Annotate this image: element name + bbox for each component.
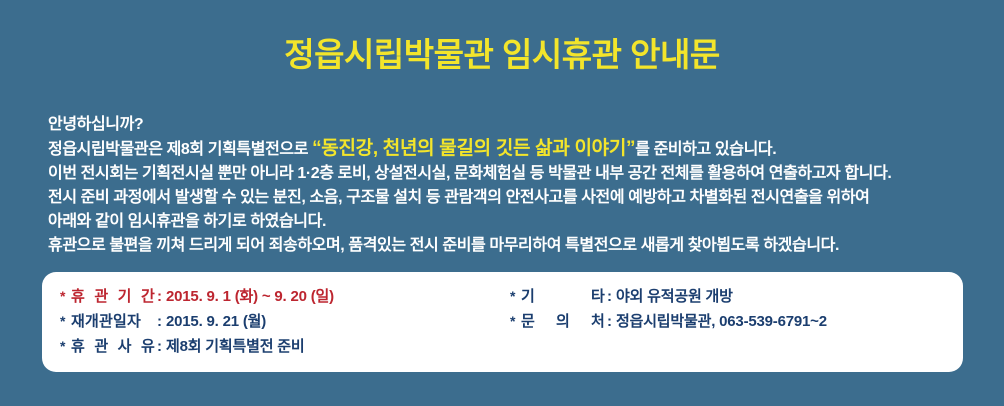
body-line-1-text: 안녕하십니까?: [48, 116, 143, 133]
detail-row-other: * 기 타 : 야외 유적공원 개방: [510, 284, 827, 309]
details-column-left: * 휴 관 기 간 : 2015. 9. 1 (화) ~ 9. 20 (일) *…: [60, 284, 334, 359]
details-panel: * 휴 관 기 간 : 2015. 9. 1 (화) ~ 9. 20 (일) *…: [42, 272, 963, 372]
detail-label: 재개관일자: [71, 309, 155, 334]
body-line-4-text: 전시 준비 과정에서 발생할 수 있는 분진, 소음, 구조물 설치 등 관람객…: [48, 189, 870, 206]
detail-value: 2015. 9. 21 (월): [166, 309, 266, 334]
body-line-6: 휴관으로 불편을 끼쳐 드리게 되어 죄송하오며, 품격있는 전시 준비를 마무…: [48, 234, 978, 258]
bullet-asterisk-icon: *: [60, 334, 71, 359]
body-line-3-text: 이번 전시회는 기획전시실 뿐만 아니라 1·2층 로비, 상설전시실, 문화체…: [48, 165, 891, 182]
detail-row-closure-period: * 휴 관 기 간 : 2015. 9. 1 (화) ~ 9. 20 (일): [60, 284, 334, 309]
bullet-asterisk-icon: *: [510, 284, 521, 309]
body-line-2-prefix: 정읍시립박물관은 제8회 기획특별전으로: [48, 141, 312, 158]
body-line-4: 전시 준비 과정에서 발생할 수 있는 분진, 소음, 구조물 설치 등 관람객…: [48, 186, 978, 210]
bullet-asterisk-icon: *: [510, 309, 521, 334]
body-line-2: 정읍시립박물관은 제8회 기획특별전으로 “동진강, 천년의 물길의 깃든 삶과…: [48, 137, 978, 162]
detail-value: 정읍시립박물관, 063-539-6791~2: [616, 309, 827, 334]
detail-separator: :: [605, 284, 616, 309]
notice-body: 안녕하십니까? 정읍시립박물관은 제8회 기획특별전으로 “동진강, 천년의 물…: [48, 113, 978, 258]
body-line-3: 이번 전시회는 기획전시실 뿐만 아니라 1·2층 로비, 상설전시실, 문화체…: [48, 162, 978, 186]
detail-row-closure-reason: * 휴 관 사 유 : 제8회 기획특별전 준비: [60, 334, 334, 359]
detail-label: 휴 관 기 간: [71, 284, 155, 309]
bullet-asterisk-icon: *: [60, 309, 71, 334]
body-line-5: 아래와 같이 임시휴관을 하기로 하였습니다.: [48, 210, 978, 234]
page-title: 정읍시립박물관 임시휴관 안내문: [0, 33, 1004, 77]
detail-label: 휴 관 사 유: [71, 334, 155, 359]
body-line-2-suffix: 를 준비하고 있습니다.: [635, 141, 776, 158]
notice-poster: 정읍시립박물관 임시휴관 안내문 안녕하십니까? 정읍시립박물관은 제8회 기획…: [0, 0, 1004, 406]
detail-label: 기 타: [521, 284, 605, 309]
detail-value: 2015. 9. 1 (화) ~ 9. 20 (일): [166, 284, 334, 309]
detail-separator: :: [155, 309, 166, 334]
detail-row-contact: * 문 의 처 : 정읍시립박물관, 063-539-6791~2: [510, 309, 827, 334]
body-line-5-text: 아래와 같이 임시휴관을 하기로 하였습니다.: [48, 213, 326, 230]
detail-separator: :: [605, 309, 616, 334]
detail-value: 제8회 기획특별전 준비: [166, 334, 304, 359]
detail-value: 야외 유적공원 개방: [616, 284, 733, 309]
exhibition-title-highlight: “동진강, 천년의 물길의 깃든 삶과 이야기”: [312, 138, 635, 159]
body-line-6-text: 휴관으로 불편을 끼쳐 드리게 되어 죄송하오며, 품격있는 전시 준비를 마무…: [48, 237, 839, 254]
detail-row-reopen-date: * 재개관일자 : 2015. 9. 21 (월): [60, 309, 334, 334]
body-line-1: 안녕하십니까?: [48, 113, 978, 137]
detail-separator: :: [155, 284, 166, 309]
detail-separator: :: [155, 334, 166, 359]
detail-label: 문 의 처: [521, 309, 605, 334]
bullet-asterisk-icon: *: [60, 284, 71, 309]
details-column-right: * 기 타 : 야외 유적공원 개방 * 문 의 처 : 정읍시립박물관, 06…: [510, 284, 827, 334]
